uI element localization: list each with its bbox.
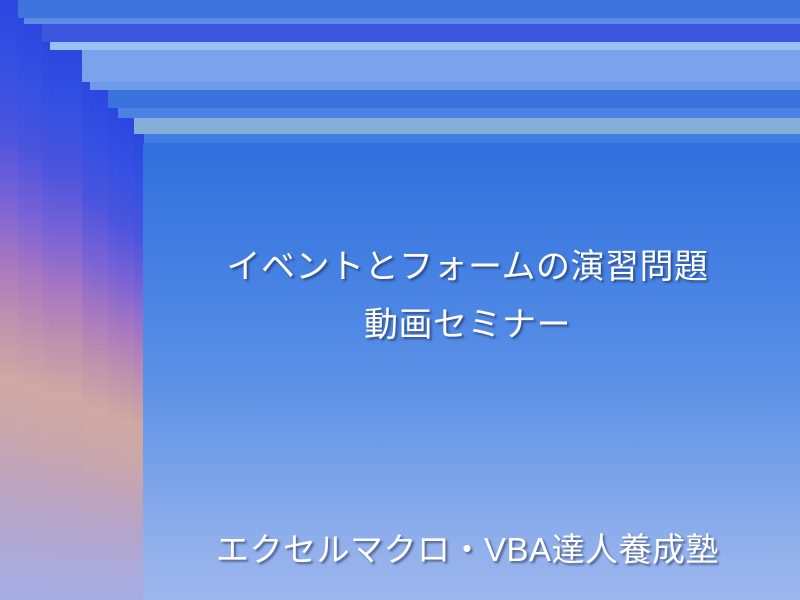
frame-band-left: [118, 118, 134, 600]
frame-band-left: [42, 42, 50, 600]
frame-band-left: [24, 24, 42, 600]
slide-canvas: イベントとフォームの演習問題 動画セミナー エクセルマクロ・VBA達人養成塾: [0, 0, 800, 600]
frame-band-left: [50, 50, 82, 600]
frame-band-left: [82, 82, 90, 600]
frame-band-left: [90, 90, 108, 600]
frame-band-left: [0, 0, 18, 600]
frame-band-left: [108, 108, 118, 600]
slide-content-area: [143, 143, 800, 600]
